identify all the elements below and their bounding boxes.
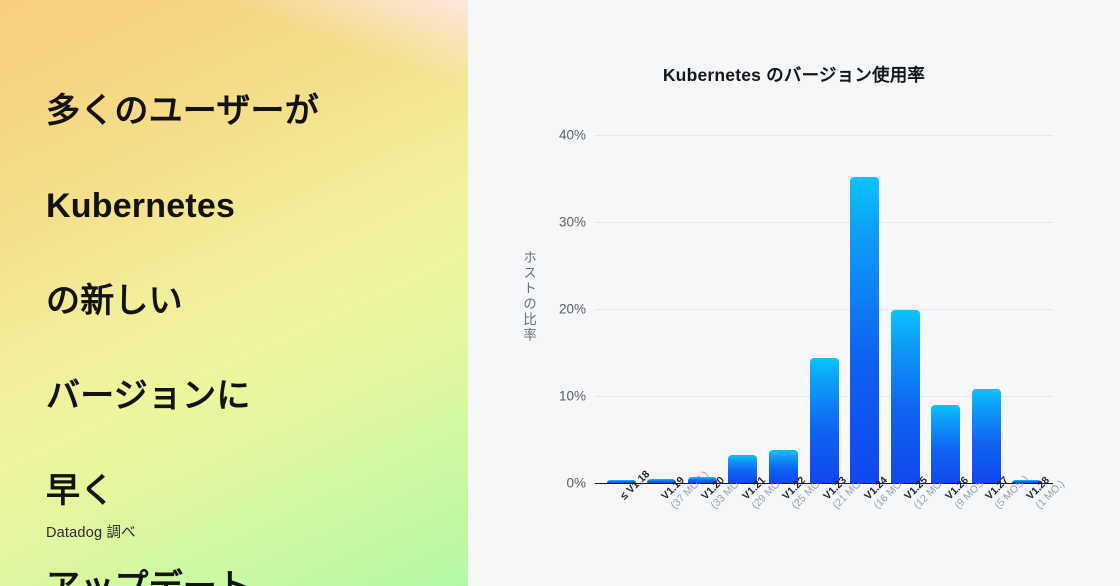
headline-line-3: の新しい: [46, 278, 446, 326]
bar-slot: V1.27(5 MOS.): [966, 135, 1007, 483]
y-axis-tick-label: 0%: [566, 476, 586, 491]
left-hero-panel: 多くのユーザーが Kubernetes の新しい バージョンに 早く アップデー…: [0, 0, 468, 586]
bar[interactable]: [850, 177, 879, 483]
bar-slot: V1.20(33 MOS.): [682, 135, 723, 483]
bar[interactable]: [931, 405, 960, 483]
bar-slot: ≤ V1.18: [601, 135, 642, 483]
headline-line-4: バージョンに: [46, 373, 446, 421]
bar-slot: V1.24(16 MOS.): [844, 135, 885, 483]
bar-series: ≤ V1.18V1.19(37 MOS.)V1.20(33 MOS.)V1.21…: [595, 135, 1053, 483]
bar-slot: V1.26(9 MOS.): [925, 135, 966, 483]
bar-slot: V1.25(12 MOS.): [885, 135, 926, 483]
bar-slot: V1.21(29 MOS.): [723, 135, 764, 483]
bar[interactable]: [728, 455, 757, 483]
headline-line-1: 多くのユーザーが: [46, 88, 446, 136]
bar[interactable]: [810, 358, 839, 483]
y-axis-label: ホストの比率: [518, 250, 538, 343]
bar-slot: V1.19(37 MOS.): [642, 135, 683, 483]
headline-line-2: Kubernetes: [46, 183, 446, 231]
chart-plot-area: 40%30%20%10%0% ≤ V1.18V1.19(37 MOS.)V1.2…: [595, 135, 1053, 483]
y-axis-tick-label: 30%: [559, 215, 586, 230]
y-axis-tick-label: 40%: [559, 128, 586, 143]
bar[interactable]: [769, 450, 798, 483]
bar-slot: V1.23(21 MOS.): [804, 135, 845, 483]
y-axis-tick-label: 20%: [559, 302, 586, 317]
chart-title: Kubernetes のバージョン使用率: [468, 62, 1120, 87]
x-axis-tick-label: V1.28(1 MO.): [1024, 469, 1068, 513]
bar-slot: V1.22(25 MOS.): [763, 135, 804, 483]
bar-slot: V1.28(1 MO.): [1006, 135, 1047, 483]
source-attribution: Datadog 調べ: [46, 521, 136, 542]
chart-panel: Kubernetes のバージョン使用率 ホストの比率 40%30%20%10%…: [468, 0, 1120, 586]
page-title: 多くのユーザーが Kubernetes の新しい バージョンに 早く アップデー…: [46, 40, 446, 586]
y-axis-tick-label: 10%: [559, 389, 586, 404]
headline-line-5: 早く: [46, 468, 446, 516]
bar[interactable]: [891, 310, 920, 483]
bar[interactable]: [972, 389, 1001, 483]
headline-line-6: アップデート: [46, 564, 446, 586]
slide-root: 多くのユーザーが Kubernetes の新しい バージョンに 早く アップデー…: [0, 0, 1120, 586]
